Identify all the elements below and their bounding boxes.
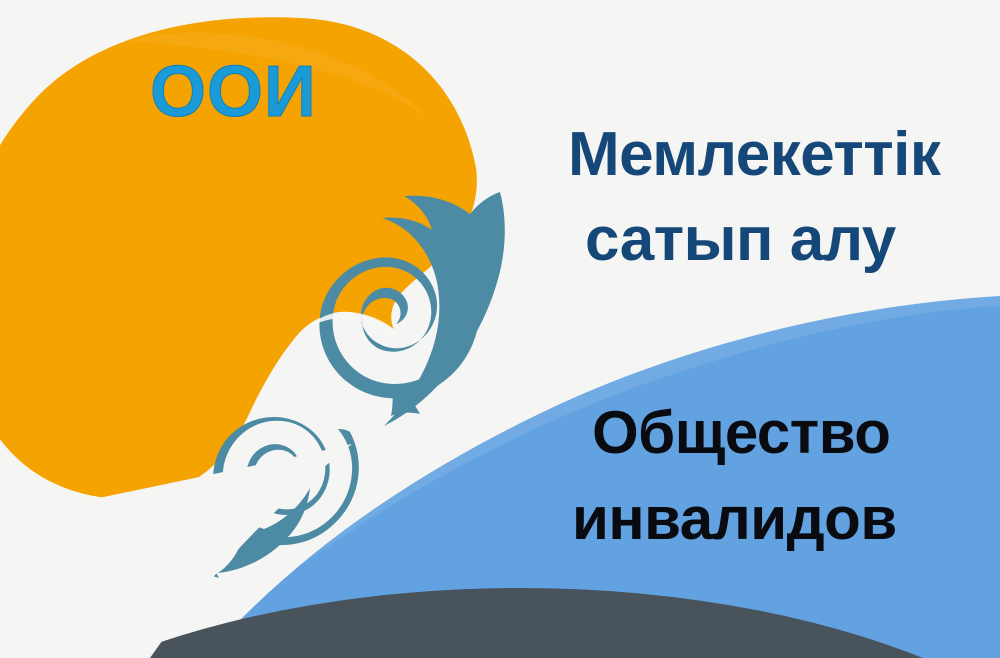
kazakh-heading-line-2: сатып алу: [585, 209, 896, 271]
russian-heading-line-1: Общество: [592, 403, 890, 463]
russian-heading-line-2: инвалидов: [572, 489, 897, 549]
poster-canvas: ООИ Мемлекеттік сатып алу Общество инвал…: [0, 0, 1000, 658]
kazakh-heading-line-1: Мемлекеттік: [568, 124, 940, 186]
organization-acronym: ООИ: [150, 56, 317, 128]
